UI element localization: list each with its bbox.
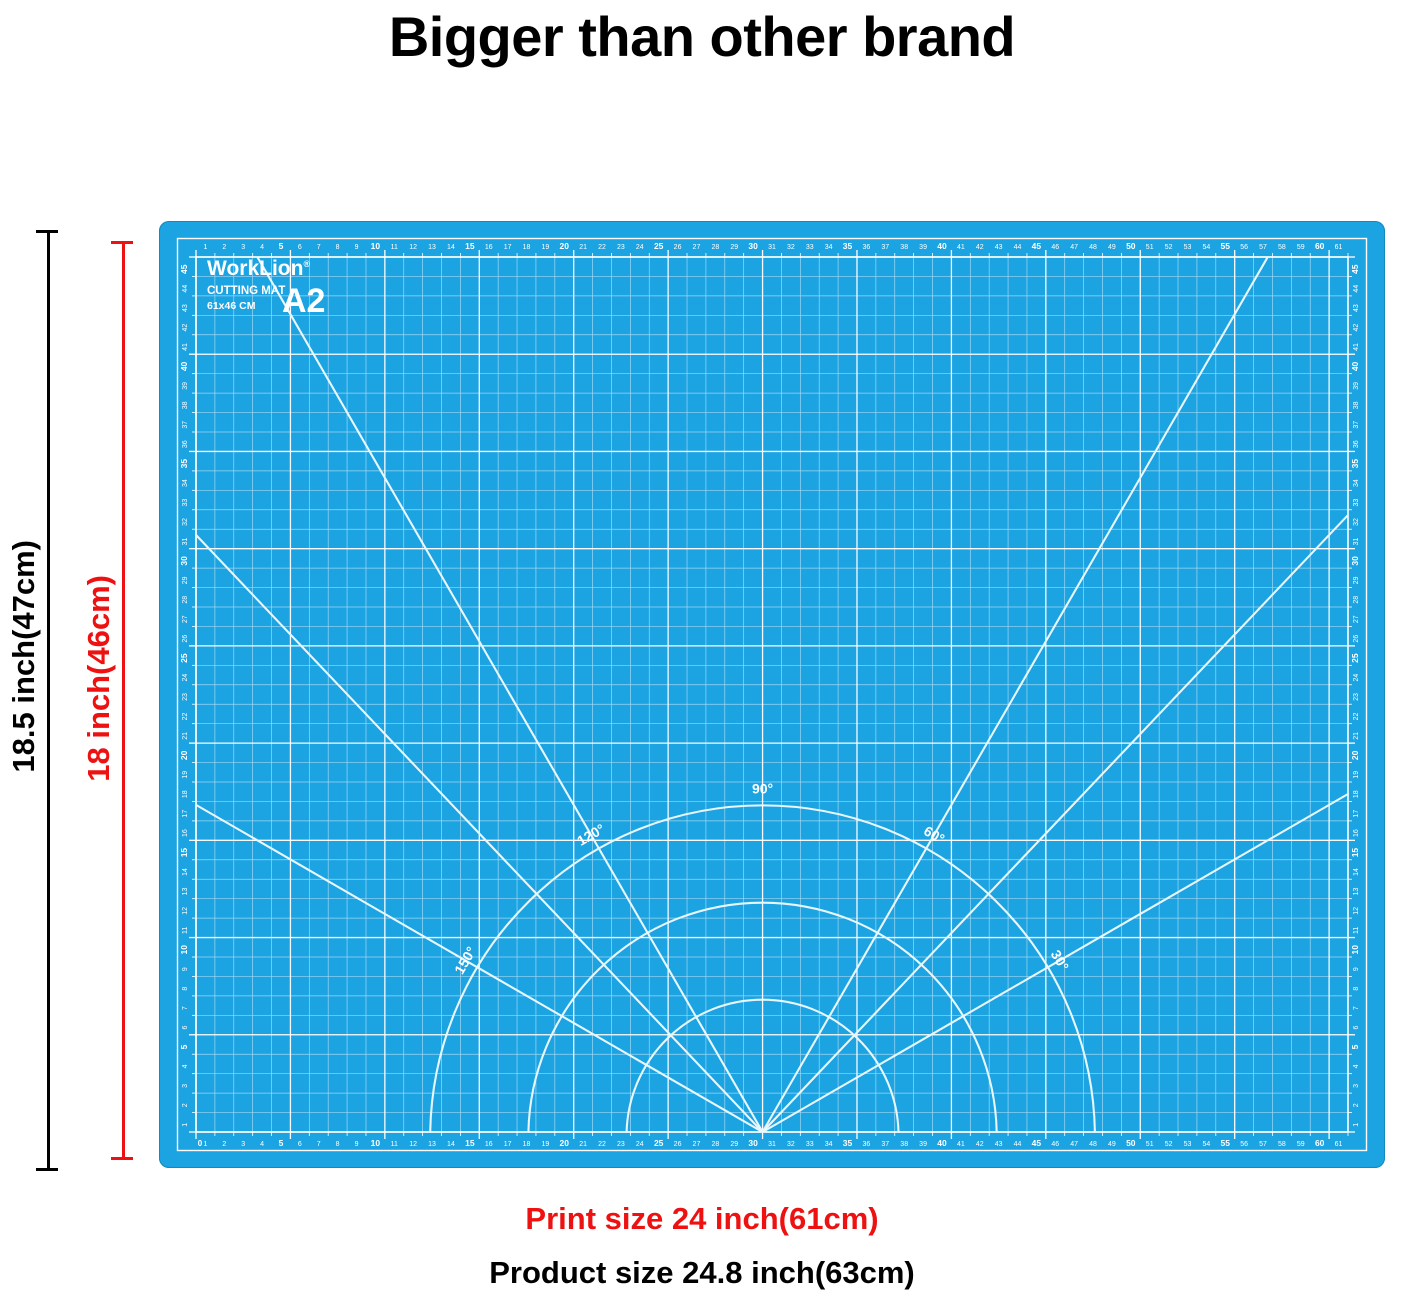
svg-text:9: 9 — [355, 1141, 359, 1148]
svg-text:14: 14 — [182, 868, 189, 876]
svg-text:8: 8 — [1353, 987, 1360, 991]
mat-brand-block: WorkLion® CUTTING MAT 61x46 CM A2 — [207, 258, 310, 311]
svg-text:120°: 120° — [574, 820, 607, 848]
page-title: Bigger than other brand — [0, 4, 1404, 69]
svg-text:4: 4 — [260, 244, 264, 251]
svg-text:36: 36 — [863, 1141, 871, 1148]
svg-text:61: 61 — [1335, 1141, 1343, 1148]
svg-text:31: 31 — [1353, 537, 1360, 545]
svg-text:35: 35 — [179, 459, 189, 469]
svg-text:18: 18 — [1353, 790, 1360, 798]
svg-text:46: 46 — [1051, 244, 1059, 251]
svg-text:10: 10 — [371, 241, 381, 251]
svg-text:42: 42 — [976, 244, 984, 251]
svg-text:60: 60 — [1315, 241, 1325, 251]
svg-text:38: 38 — [900, 244, 908, 251]
svg-text:45: 45 — [1350, 264, 1360, 274]
svg-text:45: 45 — [1032, 1138, 1042, 1148]
svg-text:24: 24 — [182, 674, 189, 682]
svg-text:11: 11 — [391, 1141, 398, 1148]
svg-text:34: 34 — [825, 244, 833, 251]
svg-text:40: 40 — [179, 361, 189, 371]
svg-text:44: 44 — [1353, 285, 1360, 293]
svg-text:28: 28 — [1353, 596, 1360, 604]
svg-text:17: 17 — [504, 244, 512, 251]
svg-text:53: 53 — [1184, 1141, 1192, 1148]
svg-text:41: 41 — [957, 244, 965, 251]
svg-text:35: 35 — [843, 1138, 853, 1148]
svg-text:23: 23 — [617, 244, 625, 251]
svg-text:15: 15 — [465, 241, 475, 251]
svg-text:28: 28 — [182, 596, 189, 604]
svg-text:4: 4 — [1353, 1064, 1360, 1068]
svg-text:33: 33 — [182, 499, 189, 507]
svg-text:32: 32 — [1353, 518, 1360, 526]
svg-text:7: 7 — [317, 244, 321, 251]
svg-text:34: 34 — [825, 1141, 833, 1148]
svg-text:24: 24 — [636, 244, 644, 251]
svg-text:27: 27 — [182, 615, 189, 623]
svg-text:55: 55 — [1221, 1138, 1231, 1148]
svg-text:21: 21 — [579, 1141, 587, 1148]
svg-text:30: 30 — [1350, 556, 1360, 566]
svg-text:1: 1 — [1353, 1123, 1360, 1127]
svg-text:43: 43 — [182, 304, 189, 312]
svg-text:3: 3 — [182, 1084, 189, 1088]
svg-text:16: 16 — [485, 244, 493, 251]
svg-text:5: 5 — [279, 1138, 284, 1148]
svg-text:16: 16 — [485, 1141, 493, 1148]
svg-text:40: 40 — [1350, 361, 1360, 371]
svg-text:25: 25 — [654, 1138, 664, 1148]
svg-text:26: 26 — [1353, 635, 1360, 643]
svg-text:14: 14 — [447, 1141, 455, 1148]
svg-text:3: 3 — [1353, 1084, 1360, 1088]
svg-text:30°: 30° — [1048, 947, 1072, 973]
svg-text:60°: 60° — [921, 822, 947, 846]
svg-text:17: 17 — [1353, 810, 1360, 818]
svg-text:42: 42 — [1353, 324, 1360, 332]
svg-text:33: 33 — [1353, 499, 1360, 507]
svg-text:40: 40 — [937, 241, 947, 251]
svg-text:18: 18 — [523, 244, 531, 251]
svg-text:15: 15 — [1350, 848, 1360, 858]
svg-text:7: 7 — [182, 1006, 189, 1010]
svg-text:34: 34 — [182, 479, 189, 487]
svg-text:34: 34 — [1353, 479, 1360, 487]
svg-text:45: 45 — [179, 264, 189, 274]
mat-grid-svg: 1122334455667788991010111112121313141415… — [176, 237, 1368, 1152]
svg-text:44: 44 — [1014, 244, 1022, 251]
svg-text:57: 57 — [1259, 244, 1267, 251]
left-inner-guide-cap-top — [111, 241, 133, 244]
svg-text:10: 10 — [371, 1138, 381, 1148]
svg-text:27: 27 — [1353, 615, 1360, 623]
svg-text:26: 26 — [182, 635, 189, 643]
svg-text:25: 25 — [654, 241, 664, 251]
svg-text:90°: 90° — [752, 781, 773, 797]
svg-text:9: 9 — [355, 244, 359, 251]
svg-text:19: 19 — [541, 1141, 549, 1148]
svg-text:9: 9 — [1353, 967, 1360, 971]
svg-text:14: 14 — [1353, 868, 1360, 876]
svg-text:37: 37 — [1353, 421, 1360, 429]
svg-text:43: 43 — [995, 244, 1003, 251]
svg-text:7: 7 — [317, 1141, 321, 1148]
svg-text:47: 47 — [1070, 1141, 1078, 1148]
svg-text:41: 41 — [182, 343, 189, 351]
svg-text:6: 6 — [298, 244, 302, 251]
svg-text:57: 57 — [1259, 1141, 1267, 1148]
svg-text:11: 11 — [1353, 927, 1360, 934]
svg-text:15: 15 — [179, 848, 189, 858]
left-inner-guide-cap-bottom — [111, 1157, 133, 1160]
svg-text:9: 9 — [182, 967, 189, 971]
svg-text:13: 13 — [182, 887, 189, 895]
svg-text:22: 22 — [1353, 712, 1360, 720]
svg-text:16: 16 — [1353, 829, 1360, 837]
svg-text:54: 54 — [1202, 1141, 1210, 1148]
svg-text:38: 38 — [1353, 401, 1360, 409]
svg-text:37: 37 — [182, 421, 189, 429]
svg-text:33: 33 — [806, 1141, 814, 1148]
svg-text:32: 32 — [182, 518, 189, 526]
svg-text:11: 11 — [391, 244, 398, 251]
svg-text:49: 49 — [1108, 1141, 1116, 1148]
svg-text:12: 12 — [409, 244, 417, 251]
svg-text:35: 35 — [843, 241, 853, 251]
svg-text:27: 27 — [693, 1141, 701, 1148]
svg-text:30: 30 — [179, 556, 189, 566]
svg-text:4: 4 — [260, 1141, 264, 1148]
svg-text:44: 44 — [182, 285, 189, 293]
svg-text:18: 18 — [182, 790, 189, 798]
svg-text:28: 28 — [711, 244, 719, 251]
svg-text:43: 43 — [1353, 304, 1360, 312]
svg-text:30: 30 — [748, 1138, 758, 1148]
svg-text:3: 3 — [241, 244, 245, 251]
svg-text:58: 58 — [1278, 244, 1286, 251]
svg-text:60: 60 — [1315, 1138, 1325, 1148]
svg-text:53: 53 — [1184, 244, 1192, 251]
svg-text:51: 51 — [1146, 244, 1154, 251]
svg-text:7: 7 — [1353, 1006, 1360, 1010]
svg-text:2: 2 — [222, 244, 226, 251]
svg-text:48: 48 — [1089, 244, 1097, 251]
left-inner-guide-line — [122, 241, 125, 1157]
svg-text:20: 20 — [179, 750, 189, 760]
svg-text:56: 56 — [1240, 244, 1248, 251]
svg-text:10: 10 — [1350, 945, 1360, 955]
svg-text:50: 50 — [1126, 241, 1136, 251]
svg-text:5: 5 — [1350, 1044, 1360, 1049]
svg-text:13: 13 — [428, 244, 436, 251]
svg-text:52: 52 — [1165, 1141, 1173, 1148]
svg-text:22: 22 — [598, 1141, 606, 1148]
svg-text:20: 20 — [560, 241, 570, 251]
brand-name-text: WorkLion — [207, 257, 303, 280]
svg-text:40: 40 — [937, 1138, 947, 1148]
svg-text:59: 59 — [1297, 1141, 1305, 1148]
svg-text:19: 19 — [541, 244, 549, 251]
svg-text:38: 38 — [900, 1141, 908, 1148]
svg-text:6: 6 — [182, 1026, 189, 1030]
svg-text:19: 19 — [182, 771, 189, 779]
svg-text:39: 39 — [182, 382, 189, 390]
svg-text:35: 35 — [1350, 459, 1360, 469]
svg-text:17: 17 — [182, 810, 189, 818]
svg-text:55: 55 — [1221, 241, 1231, 251]
svg-text:32: 32 — [787, 1141, 795, 1148]
svg-text:33: 33 — [806, 244, 814, 251]
brand-trademark: ® — [303, 259, 310, 269]
left-outer-guide-line — [47, 230, 50, 1168]
svg-text:24: 24 — [636, 1141, 644, 1148]
svg-text:32: 32 — [787, 244, 795, 251]
svg-text:36: 36 — [1353, 440, 1360, 448]
svg-text:26: 26 — [674, 244, 682, 251]
svg-text:13: 13 — [428, 1141, 436, 1148]
left-outer-measure-label: 18.5 inch(47cm) — [6, 540, 42, 773]
bottom-inner-measure-label: Print size 24 inch(61cm) — [0, 1197, 1404, 1241]
svg-text:31: 31 — [768, 1141, 776, 1148]
svg-text:36: 36 — [863, 244, 871, 251]
svg-text:41: 41 — [957, 1141, 965, 1148]
svg-text:0: 0 — [198, 1139, 203, 1148]
svg-text:51: 51 — [1146, 1141, 1154, 1148]
svg-text:2: 2 — [182, 1103, 189, 1107]
left-outer-guide-cap-top — [36, 230, 58, 233]
svg-text:47: 47 — [1070, 244, 1078, 251]
left-inner-measure-label: 18 inch(46cm) — [81, 575, 117, 782]
svg-text:37: 37 — [881, 244, 889, 251]
left-outer-guide-cap-bottom — [36, 1168, 58, 1171]
svg-text:1: 1 — [203, 1141, 207, 1148]
svg-text:16: 16 — [182, 829, 189, 837]
svg-text:8: 8 — [336, 244, 340, 251]
mat-printed-area: 1122334455667788991010111112121313141415… — [176, 237, 1368, 1152]
svg-text:22: 22 — [598, 244, 606, 251]
svg-text:21: 21 — [182, 732, 189, 740]
svg-text:23: 23 — [1353, 693, 1360, 701]
brand-name: WorkLion® — [207, 258, 310, 279]
svg-text:41: 41 — [1353, 343, 1360, 351]
svg-text:8: 8 — [336, 1141, 340, 1148]
svg-text:38: 38 — [182, 401, 189, 409]
svg-text:30: 30 — [748, 241, 758, 251]
svg-text:29: 29 — [730, 1141, 738, 1148]
svg-text:42: 42 — [976, 1141, 984, 1148]
svg-text:25: 25 — [1350, 653, 1360, 663]
svg-text:5: 5 — [279, 241, 284, 251]
svg-text:24: 24 — [1353, 674, 1360, 682]
svg-text:46: 46 — [1051, 1141, 1059, 1148]
svg-text:14: 14 — [447, 244, 455, 251]
svg-text:8: 8 — [182, 987, 189, 991]
svg-text:37: 37 — [881, 1141, 889, 1148]
svg-text:43: 43 — [995, 1141, 1003, 1148]
svg-text:17: 17 — [504, 1141, 512, 1148]
svg-text:59: 59 — [1297, 244, 1305, 251]
svg-text:50: 50 — [1126, 1138, 1136, 1148]
brand-size-code: A2 — [282, 284, 325, 318]
svg-text:1: 1 — [182, 1123, 189, 1127]
svg-text:12: 12 — [409, 1141, 417, 1148]
svg-text:61: 61 — [1335, 244, 1343, 251]
svg-text:29: 29 — [1353, 576, 1360, 584]
svg-text:1: 1 — [203, 244, 207, 251]
svg-text:39: 39 — [919, 1141, 927, 1148]
svg-text:56: 56 — [1240, 1141, 1248, 1148]
svg-text:21: 21 — [579, 244, 587, 251]
svg-text:13: 13 — [1353, 887, 1360, 895]
svg-text:19: 19 — [1353, 771, 1360, 779]
svg-text:22: 22 — [182, 712, 189, 720]
svg-text:27: 27 — [693, 244, 701, 251]
svg-text:45: 45 — [1032, 241, 1042, 251]
svg-text:29: 29 — [182, 576, 189, 584]
svg-text:11: 11 — [182, 927, 189, 934]
svg-text:21: 21 — [1353, 732, 1360, 740]
svg-text:15: 15 — [465, 1138, 475, 1148]
svg-text:3: 3 — [241, 1141, 245, 1148]
svg-text:18: 18 — [523, 1141, 531, 1148]
svg-text:2: 2 — [1353, 1103, 1360, 1107]
svg-text:29: 29 — [730, 244, 738, 251]
svg-text:5: 5 — [179, 1044, 189, 1049]
svg-text:4: 4 — [182, 1064, 189, 1068]
svg-text:26: 26 — [674, 1141, 682, 1148]
svg-text:23: 23 — [182, 693, 189, 701]
svg-text:10: 10 — [179, 945, 189, 955]
svg-text:25: 25 — [179, 653, 189, 663]
svg-text:31: 31 — [182, 537, 189, 545]
svg-text:2: 2 — [222, 1141, 226, 1148]
bottom-outer-measure-label: Product size 24.8 inch(63cm) — [0, 1251, 1404, 1295]
svg-text:44: 44 — [1014, 1141, 1022, 1148]
svg-text:39: 39 — [919, 244, 927, 251]
svg-text:36: 36 — [182, 440, 189, 448]
svg-text:12: 12 — [1353, 907, 1360, 915]
svg-text:6: 6 — [1353, 1026, 1360, 1030]
svg-text:23: 23 — [617, 1141, 625, 1148]
svg-text:39: 39 — [1353, 382, 1360, 390]
svg-text:42: 42 — [182, 324, 189, 332]
svg-text:28: 28 — [711, 1141, 719, 1148]
svg-text:49: 49 — [1108, 244, 1116, 251]
svg-text:58: 58 — [1278, 1141, 1286, 1148]
svg-text:31: 31 — [768, 244, 776, 251]
svg-text:20: 20 — [1350, 750, 1360, 760]
svg-text:54: 54 — [1202, 244, 1210, 251]
cutting-mat: 1122334455667788991010111112121313141415… — [159, 221, 1385, 1168]
svg-text:6: 6 — [298, 1141, 302, 1148]
svg-text:20: 20 — [560, 1138, 570, 1148]
svg-text:48: 48 — [1089, 1141, 1097, 1148]
svg-text:12: 12 — [182, 907, 189, 915]
svg-text:52: 52 — [1165, 244, 1173, 251]
